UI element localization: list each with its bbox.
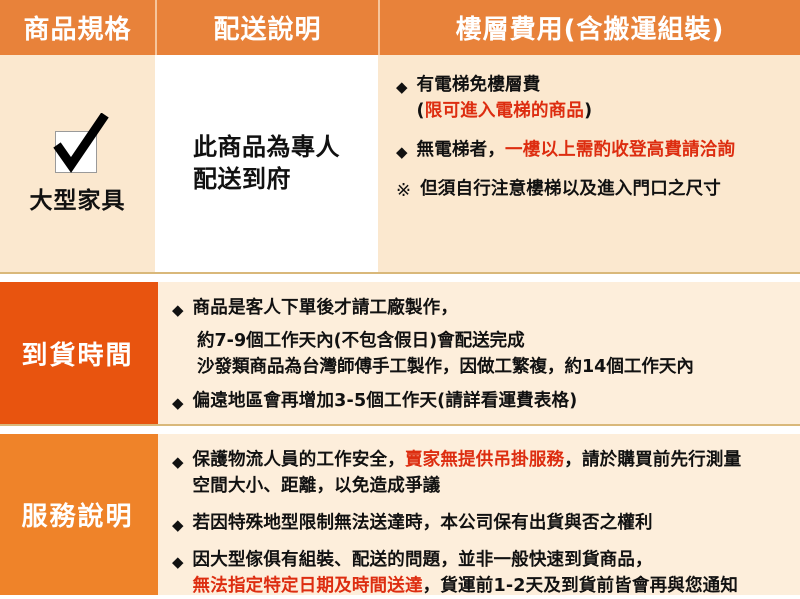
arrival-item-1-subline-1: 約7-9個工作天內(不包含假日)會配送完成 bbox=[197, 328, 790, 354]
table-row: 大型家具 此商品為專人 配送到府 ◆ 有電梯免樓層費 (限可進入電梯的商品) ◆… bbox=[0, 55, 800, 272]
service-item-1: 保護物流人員的工作安全，賣家無提供吊掛服務，請於購買前先行測量 空間大小、距離，… bbox=[193, 448, 742, 500]
service-item-3-highlight: 無法指定特定日期及時間送達 bbox=[193, 576, 423, 596]
delivery-note-line1: 此商品為專人 bbox=[193, 133, 340, 161]
shipping-info-table: 商品規格 配送說明 樓層費用(含搬運組裝) 大型家具 此商品為專人 配送到府 bbox=[0, 0, 800, 595]
service-item-3: 因大型傢俱有組裝、配送的問題，並非一般快速到貨商品， 無法指定特定日期及時間送達… bbox=[193, 548, 739, 599]
list-item: ◆ 因大型傢俱有組裝、配送的問題，並非一般快速到貨商品， 無法指定特定日期及時間… bbox=[172, 548, 792, 599]
service-item-1-suffix: ，請於購買前先行測量 bbox=[564, 450, 741, 470]
list-item: ◆ 有電梯免樓層費 (限可進入電梯的商品) bbox=[396, 73, 790, 125]
list-item: ◆ 偏遠地區會再增加3-5個工作天(請詳看運費表格) bbox=[172, 389, 790, 415]
floor-fee-item-2-highlight: 一樓以上需酌收登高費請洽詢 bbox=[505, 140, 735, 160]
table-row: 服務說明 ◆ 保護物流人員的工作安全，賣家無提供吊掛服務，請於購買前先行測量 空… bbox=[0, 434, 800, 595]
paren-close: ) bbox=[584, 101, 592, 121]
row-gap bbox=[0, 426, 800, 434]
cell-service-note-label: 服務說明 bbox=[0, 434, 155, 595]
arrival-time-label: 到貨時間 bbox=[21, 335, 133, 372]
table-header-row: 商品規格 配送說明 樓層費用(含搬運組裝) bbox=[0, 0, 800, 55]
product-spec-label: 大型家具 bbox=[30, 181, 126, 215]
arrival-item-2: 偏遠地區會再增加3-5個工作天(請詳看運費表格) bbox=[193, 389, 578, 415]
service-item-2: 若因特殊地型限制無法送達時，本公司保有出貨與否之權利 bbox=[193, 511, 653, 537]
floor-fee-item-1-line1: 有電梯免樓層費 bbox=[417, 75, 541, 95]
row-divider bbox=[0, 424, 800, 426]
arrival-item-1-subline-2: 沙發類商品為台灣師傅手工製作，因做工繁複，約14個工作天內 bbox=[197, 354, 790, 380]
list-item: ◆ 若因特殊地型限制無法送達時，本公司保有出貨與否之權利 bbox=[172, 511, 792, 537]
delivery-note-line2: 配送到府 bbox=[193, 165, 291, 193]
diamond-bullet-icon: ◆ bbox=[396, 138, 417, 164]
cell-floor-fee: ◆ 有電梯免樓層費 (限可進入電梯的商品) ◆ 無電梯者，一樓以上需酌收登高費請… bbox=[378, 55, 800, 272]
list-item: ◆ 商品是客人下單後才請工廠製作， bbox=[172, 296, 790, 322]
service-item-1-subline: 空間大小、距離，以免造成爭議 bbox=[193, 476, 441, 496]
diamond-bullet-icon: ◆ bbox=[172, 548, 193, 574]
header-cell-delivery-note: 配送說明 bbox=[155, 0, 378, 55]
header-label-floor-fee: 樓層費用(含搬運組裝) bbox=[456, 9, 725, 46]
row-divider bbox=[0, 272, 800, 274]
header-cell-product-spec: 商品規格 bbox=[0, 0, 155, 55]
cell-product-spec: 大型家具 bbox=[0, 55, 155, 272]
diamond-bullet-icon: ◆ bbox=[172, 296, 193, 322]
service-item-1-prefix: 保護物流人員的工作安全， bbox=[193, 450, 405, 470]
diamond-bullet-icon: ◆ bbox=[396, 73, 417, 99]
floor-fee-item-1: 有電梯免樓層費 (限可進入電梯的商品) bbox=[417, 73, 593, 125]
floor-fee-item-3: 但須自行注意樓梯以及進入門口之尺寸 bbox=[420, 177, 721, 203]
checkbox-checked-icon bbox=[43, 113, 113, 175]
arrival-item-1: 商品是客人下單後才請工廠製作， bbox=[193, 296, 459, 322]
service-item-1-highlight: 賣家無提供吊掛服務 bbox=[405, 450, 564, 470]
floor-fee-item-2: 無電梯者，一樓以上需酌收登高費請洽詢 bbox=[417, 138, 736, 164]
check-mark-icon bbox=[43, 113, 113, 175]
service-item-3-prefix: 因大型傢俱有組裝、配送的問題，並非一般快速到貨商品， bbox=[193, 550, 653, 570]
table-row: 到貨時間 ◆ 商品是客人下單後才請工廠製作， 約7-9個工作天內(不包含假日)會… bbox=[0, 282, 800, 424]
service-note-label: 服務說明 bbox=[21, 496, 133, 533]
list-item: ※ 但須自行注意樓梯以及進入門口之尺寸 bbox=[396, 177, 790, 204]
header-label-product-spec: 商品規格 bbox=[23, 9, 131, 46]
cell-service-note-content: ◆ 保護物流人員的工作安全，賣家無提供吊掛服務，請於購買前先行測量 空間大小、距… bbox=[155, 434, 800, 595]
row-gap bbox=[0, 274, 800, 282]
list-item: ◆ 無電梯者，一樓以上需酌收登高費請洽詢 bbox=[396, 138, 790, 164]
diamond-bullet-icon: ◆ bbox=[172, 389, 193, 415]
diamond-bullet-icon: ◆ bbox=[172, 511, 193, 537]
list-item: ◆ 保護物流人員的工作安全，賣家無提供吊掛服務，請於購買前先行測量 空間大小、距… bbox=[172, 448, 792, 500]
diamond-bullet-icon: ◆ bbox=[172, 448, 193, 474]
cell-arrival-time-content: ◆ 商品是客人下單後才請工廠製作， 約7-9個工作天內(不包含假日)會配送完成 … bbox=[155, 282, 800, 424]
service-item-3-suffix: ，貨運前1-2天及到貨前皆會再與您通知 bbox=[423, 576, 738, 596]
cell-arrival-time-label: 到貨時間 bbox=[0, 282, 155, 424]
floor-fee-item-1-highlight: 限可進入電梯的商品 bbox=[425, 101, 584, 121]
paren-open: ( bbox=[417, 101, 425, 121]
floor-fee-item-2-prefix: 無電梯者， bbox=[417, 140, 506, 160]
cell-delivery-note: 此商品為專人 配送到府 bbox=[155, 55, 378, 272]
header-cell-floor-fee: 樓層費用(含搬運組裝) bbox=[378, 0, 800, 55]
header-label-delivery-note: 配送說明 bbox=[213, 9, 321, 46]
reference-mark-icon: ※ bbox=[396, 177, 420, 204]
